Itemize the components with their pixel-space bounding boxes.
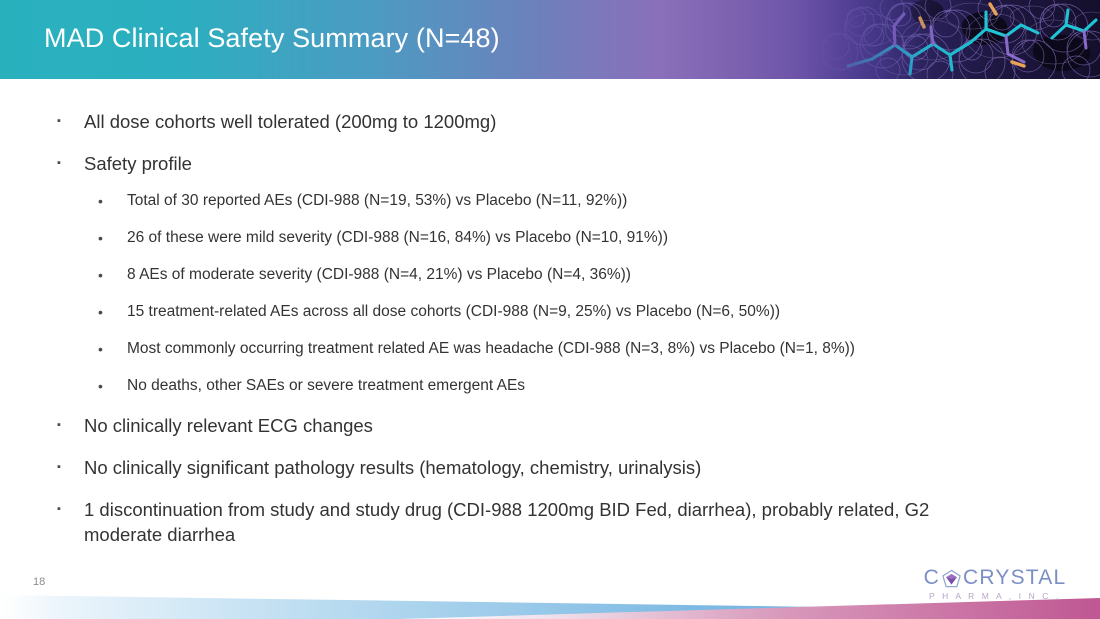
list-item-text: All dose cohorts well tolerated (200mg t… (84, 109, 989, 134)
list-item-text: 1 discontinuation from study and study d… (84, 497, 989, 547)
list-item-text: No clinically significant pathology resu… (84, 455, 989, 480)
list-item-text: 8 AEs of moderate severity (CDI-988 (N=4… (127, 264, 1100, 286)
square-bullet-icon: ▪ (57, 413, 84, 438)
square-bullet-icon: ▪ (57, 497, 84, 522)
list-item: • 26 of these were mild severity (CDI-98… (98, 227, 1100, 249)
list-item: ▪ Safety profile (57, 151, 1100, 176)
slide-header-band: MAD Clinical Safety Summary (N=48) (0, 0, 1100, 79)
list-item-text: Most commonly occurring treatment relate… (127, 338, 1100, 360)
list-item-text: Safety profile (84, 151, 989, 176)
square-bullet-icon: ▪ (57, 455, 84, 480)
list-item: ▪ All dose cohorts well tolerated (200mg… (57, 109, 1100, 134)
page-title: MAD Clinical Safety Summary (N=48) (44, 23, 500, 54)
square-bullet-icon: ▪ (57, 151, 84, 176)
list-item-text: 15 treatment-related AEs across all dose… (127, 301, 1100, 323)
list-item: • Most commonly occurring treatment rela… (98, 338, 1100, 360)
list-item: • No deaths, other SAEs or severe treatm… (98, 375, 1100, 397)
footer-swoosh-bands (0, 585, 1100, 619)
round-bullet-icon: • (98, 301, 127, 323)
round-bullet-icon: • (98, 338, 127, 360)
list-item: ▪ 1 discontinuation from study and study… (57, 497, 1100, 547)
list-item-text: No clinically relevant ECG changes (84, 413, 989, 438)
round-bullet-icon: • (98, 227, 127, 249)
list-item: • Total of 30 reported AEs (CDI-988 (N=1… (98, 190, 1100, 212)
slide-body: ▪ All dose cohorts well tolerated (200mg… (0, 79, 1100, 559)
list-item-text: Total of 30 reported AEs (CDI-988 (N=19,… (127, 190, 1100, 212)
round-bullet-icon: • (98, 264, 127, 286)
molecular-structure-image (800, 0, 1100, 79)
round-bullet-icon: • (98, 375, 127, 397)
round-bullet-icon: • (98, 190, 127, 212)
list-item-text: No deaths, other SAEs or severe treatmen… (127, 375, 1100, 397)
list-item: • 15 treatment-related AEs across all do… (98, 301, 1100, 323)
list-item: ▪ No clinically relevant ECG changes (57, 413, 1100, 438)
list-item: ▪ No clinically significant pathology re… (57, 455, 1100, 480)
slide: MAD Clinical Safety Summary (N=48) ▪ All… (0, 0, 1100, 619)
list-item: • 8 AEs of moderate severity (CDI-988 (N… (98, 264, 1100, 286)
square-bullet-icon: ▪ (57, 109, 84, 134)
list-item-text: 26 of these were mild severity (CDI-988 … (127, 227, 1100, 249)
sub-bullet-group: • Total of 30 reported AEs (CDI-988 (N=1… (0, 190, 1100, 397)
